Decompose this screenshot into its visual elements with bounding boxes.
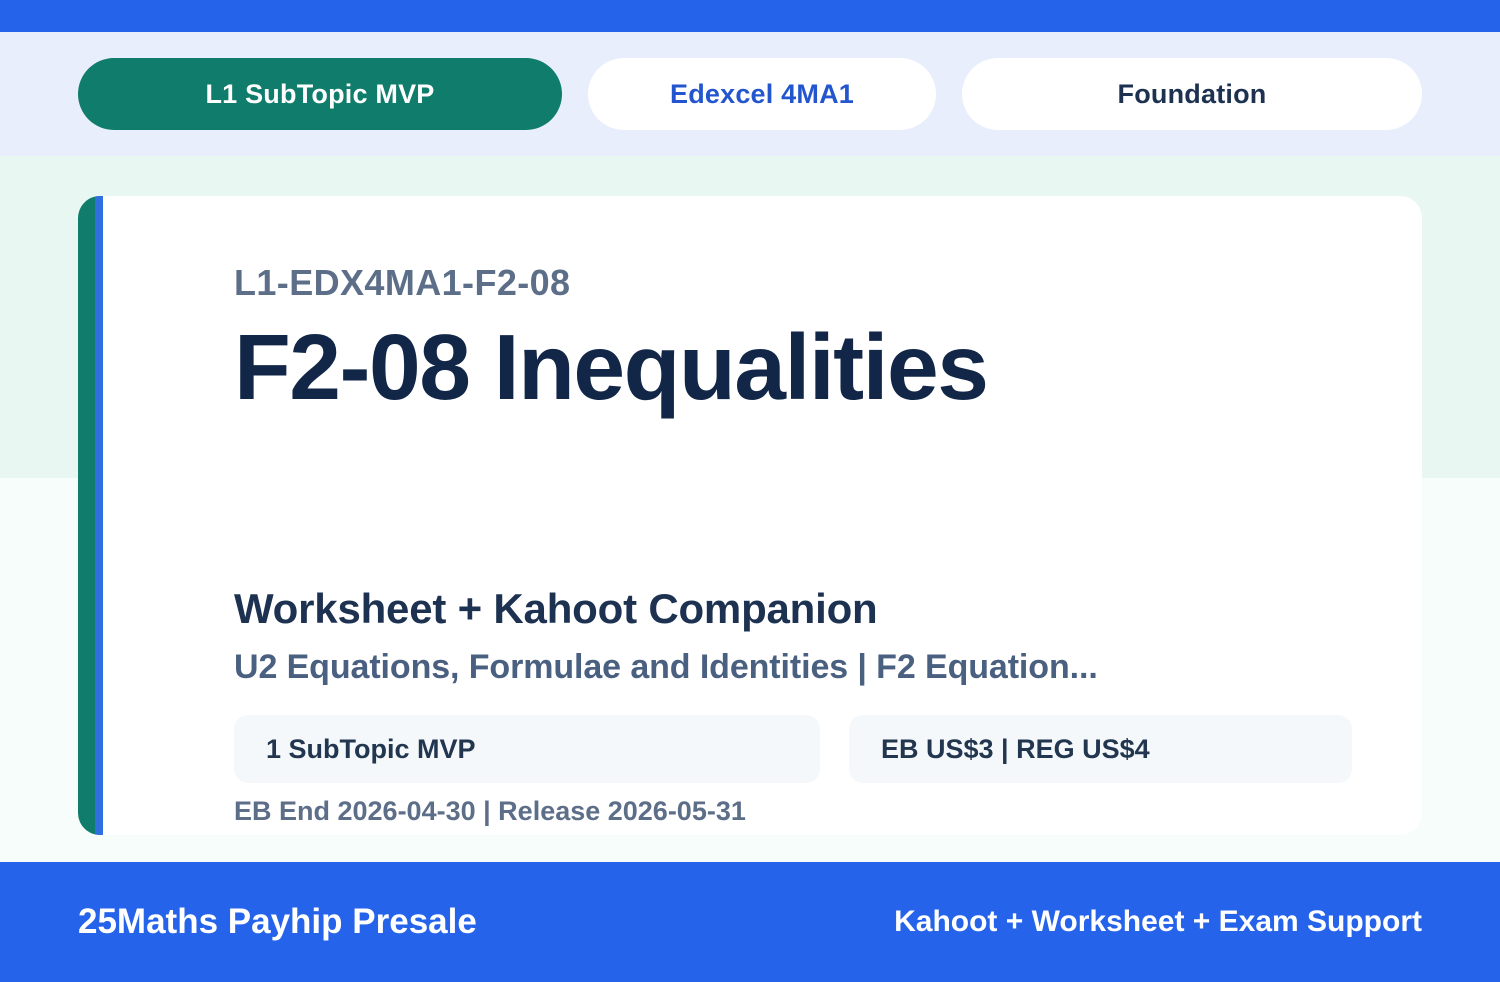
release-dates: EB End 2026-04-30 | Release 2026-05-31	[234, 796, 746, 827]
top-accent-bar	[0, 0, 1500, 32]
card-subheading: Worksheet + Kahoot Companion	[234, 585, 878, 633]
card-accent-stripe	[95, 196, 103, 835]
tab-l1-subtopic-mvp[interactable]: L1 SubTopic MVP	[78, 58, 562, 130]
presale-poster: L1 SubTopic MVP Edexcel 4MA1 Foundation …	[0, 0, 1500, 982]
page-title: F2-08 Inequalities	[234, 319, 987, 417]
tab-pill-row: L1 SubTopic MVP Edexcel 4MA1 Foundation	[78, 58, 1422, 130]
tab-label: L1 SubTopic MVP	[205, 79, 434, 110]
tab-edexcel-4ma1[interactable]: Edexcel 4MA1	[588, 58, 936, 130]
card-accent-bar	[78, 196, 103, 835]
footer-tagline: Kahoot + Worksheet + Exam Support	[894, 905, 1422, 939]
card-subline: U2 Equations, Formulae and Identities | …	[234, 648, 1098, 687]
badge-row: 1 SubTopic MVP EB US$3 | REG US$4	[234, 715, 1352, 783]
card-body: L1-EDX4MA1-F2-08 F2-08 Inequalities Work…	[103, 196, 1422, 835]
footer-content: 25Maths Payhip Presale Kahoot + Workshee…	[0, 862, 1500, 982]
footer-brand: 25Maths Payhip Presale	[78, 902, 477, 942]
badge-label: 1 SubTopic MVP	[266, 734, 476, 765]
product-code: L1-EDX4MA1-F2-08	[234, 262, 570, 304]
badge-subtopic-count: 1 SubTopic MVP	[234, 715, 820, 783]
tab-label: Foundation	[1118, 79, 1267, 110]
badge-label: EB US$3 | REG US$4	[881, 734, 1150, 765]
tab-label: Edexcel 4MA1	[670, 79, 854, 110]
badge-pricing: EB US$3 | REG US$4	[849, 715, 1352, 783]
tab-foundation[interactable]: Foundation	[962, 58, 1422, 130]
product-card: L1-EDX4MA1-F2-08 F2-08 Inequalities Work…	[78, 196, 1422, 835]
